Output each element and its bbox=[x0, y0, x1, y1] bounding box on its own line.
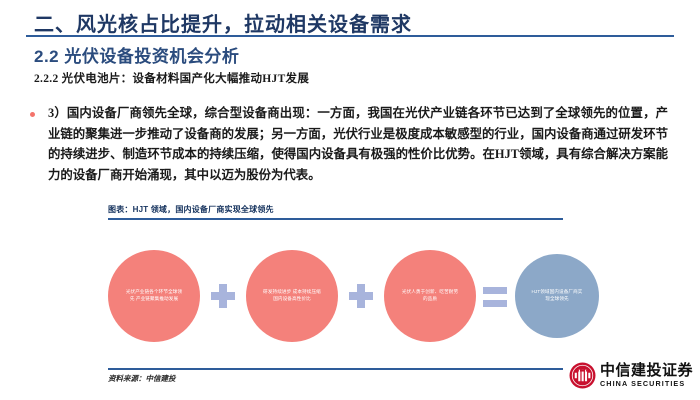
title-divider bbox=[26, 35, 674, 37]
plus-operator-icon-1 bbox=[211, 284, 235, 308]
source-divider bbox=[108, 368, 563, 370]
diagram-node-4-label: HJT领域国内设备厂商实现全球领先 bbox=[530, 289, 584, 302]
figure-container: 图表：HJT 领域，国内设备厂商实现全球领先 光伏产业链各个环节全球领先 产业链… bbox=[108, 204, 563, 368]
subsection-title: 2.2.2 光伏电池片：设备材料国产化大幅推动HJT发展 bbox=[34, 70, 309, 86]
diagram-node-2-label: 研发持续进步 成本持续压缩 国内设备高性价比 bbox=[263, 289, 321, 302]
diagram-node-2[interactable]: 研发持续进步 成本持续压缩 国内设备高性价比 bbox=[246, 250, 338, 342]
body-block: 3）国内设备厂商领先全球，综合型设备商出现：一方面，我国在光伏产业链各环节已达到… bbox=[30, 103, 668, 185]
figure-caption: 图表：HJT 领域，国内设备厂商实现全球领先 bbox=[108, 204, 563, 218]
section-title: 2.2 光伏设备投资机会分析 bbox=[34, 42, 239, 67]
logo-name-cn: 中信建投证券 bbox=[600, 363, 693, 379]
diagram-node-1[interactable]: 光伏产业链各个环节全球领先 产业链聚集推动发展 bbox=[108, 250, 200, 342]
logo-name-en: CHINA SECURITIES bbox=[600, 379, 693, 388]
figure-caption-divider bbox=[108, 218, 563, 220]
logo-text-block: 中信建投证券 CHINA SECURITIES bbox=[600, 363, 693, 388]
source-label: 资料来源：中信建投 bbox=[108, 373, 176, 384]
company-logo: 中信建投证券 CHINA SECURITIES bbox=[569, 362, 693, 389]
body-paragraph: 3）国内设备厂商领先全球，综合型设备商出现：一方面，我国在光伏产业链各环节已达到… bbox=[48, 103, 668, 185]
diagram-node-4[interactable]: HJT领域国内设备厂商实现全球领先 bbox=[515, 254, 599, 338]
diagram-node-3[interactable]: 光伏人勇于创新、吃苦耐劳的品质 bbox=[384, 250, 476, 342]
diagram-node-1-label: 光伏产业链各个环节全球领先 产业链聚集推动发展 bbox=[125, 289, 183, 302]
diagram-node-3-label: 光伏人勇于创新、吃苦耐劳的品质 bbox=[401, 289, 459, 302]
plus-operator-icon-2 bbox=[349, 284, 373, 308]
page-title: 二、风光核占比提升，拉动相关设备需求 bbox=[34, 8, 412, 37]
citic-logo-icon bbox=[569, 362, 596, 389]
equals-operator-icon bbox=[483, 285, 507, 309]
bullet-point-icon bbox=[30, 112, 35, 117]
diagram-canvas: 光伏产业链各个环节全球领先 产业链聚集推动发展 研发持续进步 成本持续压缩 国内… bbox=[108, 238, 563, 368]
